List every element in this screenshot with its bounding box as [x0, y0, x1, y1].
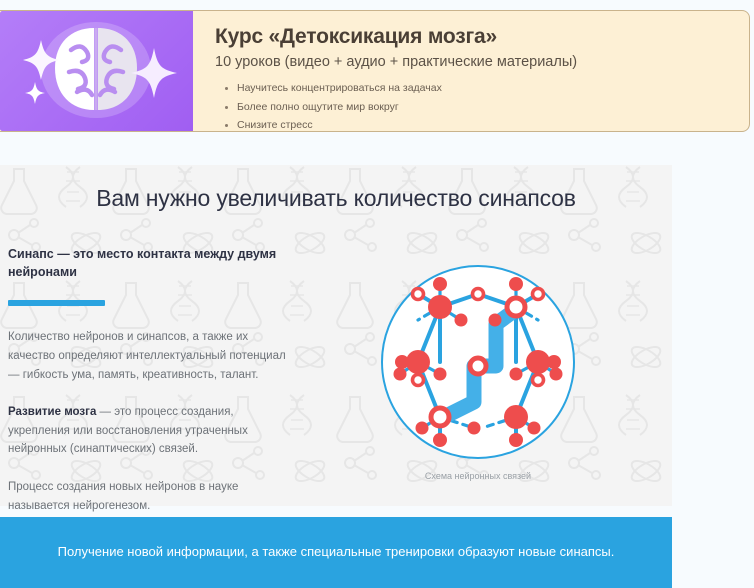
neural-network-diagram	[378, 262, 578, 462]
paragraph-brain-development: Развитие мозга — это процесс создания, у…	[8, 403, 298, 459]
page-title: Вам нужно увеличивать количество синапсо…	[0, 185, 672, 212]
synapse-text-column: Синапс — это место контакта между двумя …	[8, 245, 298, 515]
course-card: Курс «Детоксикация мозга» 10 уроков (вид…	[0, 10, 750, 132]
paragraph-neurogenesis: Процесс создания новых нейронов в науке …	[8, 478, 298, 515]
brain-sparkle-icon	[0, 10, 193, 132]
footer-banner: Получение новой информации, а также спец…	[0, 517, 672, 588]
accent-divider	[8, 300, 105, 306]
course-benefit-list: Научитесь концентрироваться на задачах Б…	[215, 79, 731, 132]
course-card-body: Курс «Детоксикация мозга» 10 уроков (вид…	[193, 11, 749, 131]
paragraph-neurons: Количество нейронов и синапсов, а также …	[8, 328, 298, 384]
course-subtitle: 10 уроков (видео + аудио + практические …	[215, 54, 731, 71]
list-item: Научитесь концентрироваться на задачах	[223, 79, 731, 97]
lede-text: Синапс — это место контакта между двумя …	[8, 245, 298, 281]
course-title: Курс «Детоксикация мозга»	[215, 25, 731, 48]
list-item: Более полно ощутите мир вокруг	[223, 98, 731, 116]
neural-network-diagram-wrap: Схема нейронных связей	[378, 262, 578, 481]
footer-banner-text: Получение новой информации, а также спец…	[18, 542, 655, 562]
list-item: Снизите стресс	[223, 116, 731, 132]
course-card-icon-panel	[0, 10, 193, 132]
diagram-caption: Схема нейронных связей	[378, 471, 578, 481]
paragraph-lead: Развитие мозга	[8, 406, 96, 418]
